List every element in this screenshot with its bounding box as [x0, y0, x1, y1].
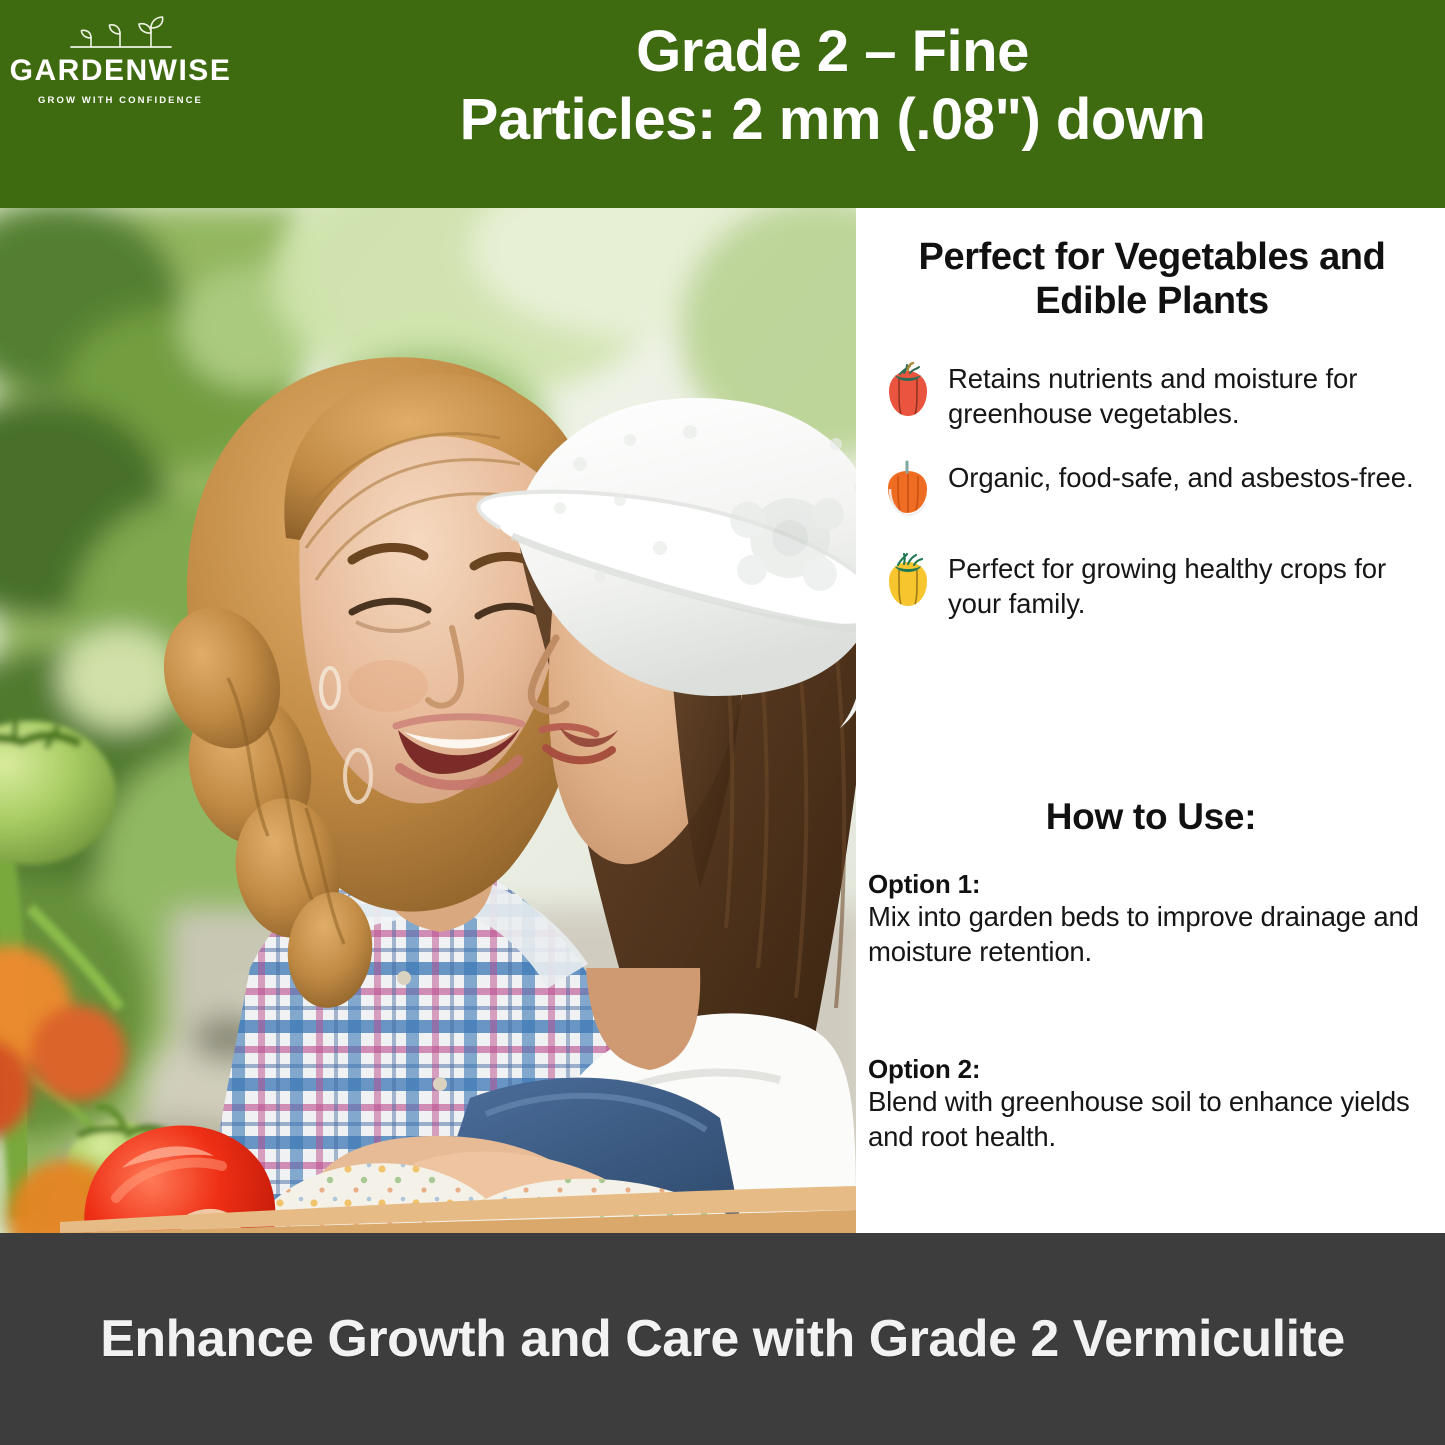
- product-infographic: GARDENWISE GROW WITH CONFIDENCE Grade 2 …: [0, 0, 1445, 1445]
- list-item-label: Retains nutrients and moisture for green…: [948, 358, 1440, 431]
- how-to-use-heading: How to Use:: [866, 796, 1436, 838]
- brand-tagline: GROW WITH CONFIDENCE: [38, 95, 203, 106]
- brand-wordmark: GARDENWISE: [10, 56, 232, 86]
- list-item: Perfect for growing healthy crops for yo…: [880, 548, 1440, 621]
- footer-banner: Enhance Growth and Care with Grade 2 Ver…: [0, 1233, 1445, 1445]
- red-bell-pepper-icon: [880, 361, 936, 423]
- header-title: Grade 2 – Fine Particles: 2 mm (.08") do…: [235, 18, 1430, 155]
- panel-heading: Perfect for Vegetables and Edible Plants: [874, 235, 1430, 323]
- list-item: Organic, food-safe, and asbestos-free.: [880, 457, 1440, 522]
- benefit-list: Retains nutrients and moisture for green…: [880, 358, 1440, 648]
- list-item-label: Organic, food-safe, and asbestos-free.: [948, 457, 1414, 496]
- yellow-bell-pepper-icon: [880, 551, 936, 613]
- info-panel: Perfect for Vegetables and Edible Plants…: [856, 208, 1445, 1233]
- header-title-line-2: Particles: 2 mm (.08") down: [235, 86, 1430, 154]
- option-2-label: Option 2:: [868, 1053, 1440, 1085]
- orange-bell-pepper-icon: [880, 460, 936, 522]
- usage-option-1: Option 1: Mix into garden beds to improv…: [868, 868, 1440, 970]
- header-banner: GARDENWISE GROW WITH CONFIDENCE Grade 2 …: [0, 0, 1445, 208]
- option-1-body: Mix into garden beds to improve drainage…: [868, 900, 1440, 969]
- header-title-line-1: Grade 2 – Fine: [235, 18, 1430, 86]
- usage-option-2: Option 2: Blend with greenhouse soil to …: [868, 1053, 1440, 1155]
- brand-logo: GARDENWISE GROW WITH CONFIDENCE: [13, 14, 228, 114]
- lifestyle-photo: [0, 208, 856, 1233]
- seedling-leaves-icon: [65, 14, 177, 52]
- option-1-label: Option 1:: [868, 868, 1440, 900]
- list-item-label: Perfect for growing healthy crops for yo…: [948, 548, 1440, 621]
- option-2-body: Blend with greenhouse soil to enhance yi…: [868, 1085, 1440, 1154]
- footer-tagline: Enhance Growth and Care with Grade 2 Ver…: [40, 1308, 1405, 1370]
- list-item: Retains nutrients and moisture for green…: [880, 358, 1440, 431]
